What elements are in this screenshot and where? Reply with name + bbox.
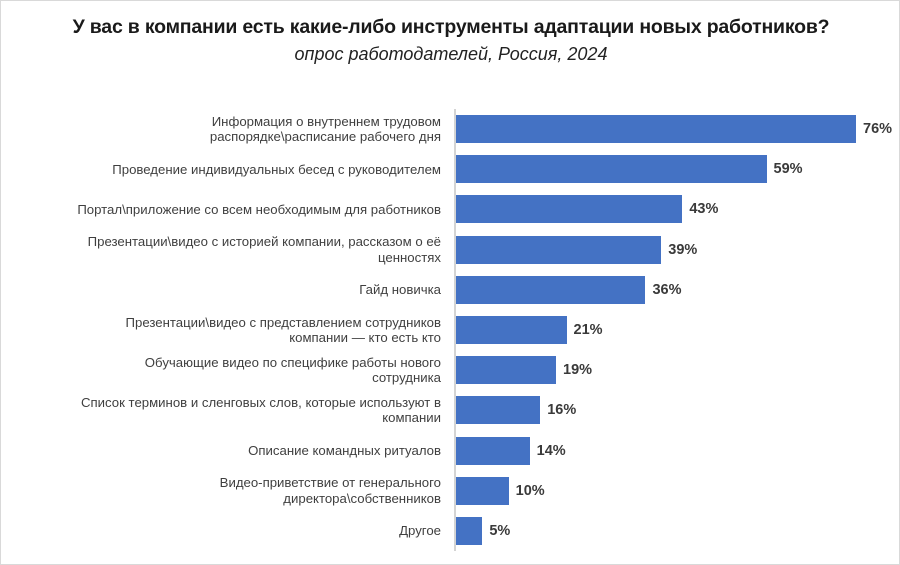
bar-and-value: 19% <box>456 350 592 390</box>
bar <box>456 356 556 384</box>
bar-and-value: 76% <box>456 109 892 149</box>
bar-and-value: 36% <box>456 270 682 310</box>
bar <box>456 195 682 223</box>
bar-value-label: 16% <box>547 402 576 418</box>
bar <box>456 155 767 183</box>
bar-row: Портал\приложение со всем необходимым дл… <box>1 189 900 229</box>
bar <box>456 276 645 304</box>
bar-value-label: 21% <box>574 322 603 338</box>
category-label: Другое <box>9 523 449 539</box>
category-label: Список терминов и сленговых слов, которы… <box>9 395 449 426</box>
bar <box>456 437 530 465</box>
category-label: Проведение индивидуальных бесед с руково… <box>9 162 449 178</box>
category-label: Портал\приложение со всем необходимым дл… <box>9 202 449 218</box>
bar-and-value: 39% <box>456 230 697 270</box>
category-label: Описание командных ритуалов <box>9 443 449 459</box>
category-label: Презентации\видео с историей компании, р… <box>9 234 449 265</box>
bar-and-value: 16% <box>456 390 576 430</box>
bar-value-label: 76% <box>863 121 892 137</box>
bar-row: Другое5% <box>1 511 900 551</box>
bar <box>456 517 482 545</box>
bar-value-label: 5% <box>489 523 510 539</box>
bar-value-label: 43% <box>689 201 718 217</box>
bar-row: Информация о внутреннем трудовом распоря… <box>1 109 900 149</box>
category-label: Обучающие видео по специфике работы ново… <box>9 355 449 386</box>
bar-and-value: 43% <box>456 189 718 229</box>
chart-container: У вас в компании есть какие-либо инструм… <box>0 0 900 565</box>
bar-row: Описание командных ритуалов14% <box>1 431 900 471</box>
plot-area: Информация о внутреннем трудовом распоря… <box>1 105 900 555</box>
bar-and-value: 59% <box>456 149 803 189</box>
category-label: Гайд новичка <box>9 282 449 298</box>
bar-row: Презентации\видео с историей компании, р… <box>1 230 900 270</box>
bar-rows: Информация о внутреннем трудовом распоря… <box>1 109 900 551</box>
bar <box>456 396 540 424</box>
bar <box>456 477 509 505</box>
bar-row: Гайд новичка36% <box>1 270 900 310</box>
bar-row: Проведение индивидуальных бесед с руково… <box>1 149 900 189</box>
bar <box>456 236 661 264</box>
bar-and-value: 10% <box>456 471 545 511</box>
bar-and-value: 21% <box>456 310 603 350</box>
page-title: У вас в компании есть какие-либо инструм… <box>61 15 841 40</box>
chart-subtitle: опрос работодателей, Россия, 2024 <box>61 42 841 66</box>
bar <box>456 115 856 143</box>
bar <box>456 316 567 344</box>
bar-and-value: 14% <box>456 431 566 471</box>
bar-value-label: 19% <box>563 362 592 378</box>
bar-row: Список терминов и сленговых слов, которы… <box>1 390 900 430</box>
bar-value-label: 10% <box>516 483 545 499</box>
bar-value-label: 39% <box>668 242 697 258</box>
bar-value-label: 36% <box>652 282 681 298</box>
bar-value-label: 59% <box>774 161 803 177</box>
category-label: Презентации\видео с представлением сотру… <box>9 315 449 346</box>
chart-title-block: У вас в компании есть какие-либо инструм… <box>61 15 841 66</box>
bar-and-value: 5% <box>456 511 510 551</box>
bar-row: Видео-приветствие от генерального директ… <box>1 471 900 511</box>
category-label: Информация о внутреннем трудовом распоря… <box>9 114 449 145</box>
bar-row: Презентации\видео с представлением сотру… <box>1 310 900 350</box>
bar-row: Обучающие видео по специфике работы ново… <box>1 350 900 390</box>
category-label: Видео-приветствие от генерального директ… <box>9 475 449 506</box>
bar-value-label: 14% <box>537 443 566 459</box>
